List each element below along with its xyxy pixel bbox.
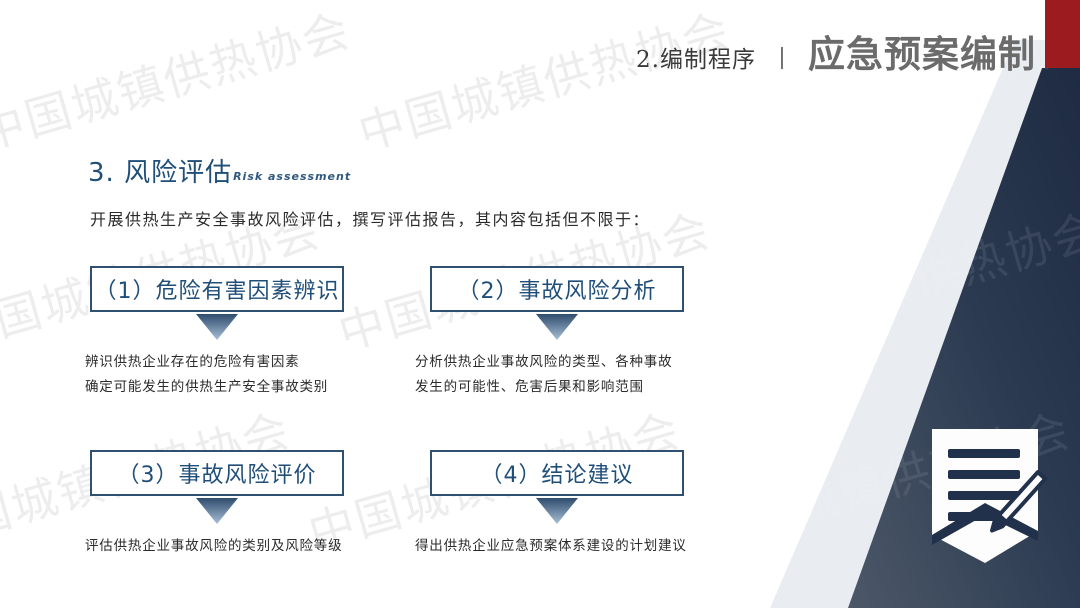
item-description-line: 确定可能发生的供热生产安全事故类别	[85, 375, 344, 400]
item-description-line: 辨识供热企业存在的危险有害因素	[85, 350, 344, 375]
item-box[interactable]: （4）结论建议	[430, 450, 684, 496]
item-description: 辨识供热企业存在的危险有害因素 确定可能发生的供热生产安全事故类别	[85, 350, 344, 400]
item-description-line: 评估供热企业事故风险的类别及风险等级	[85, 534, 344, 559]
item-description: 评估供热企业事故风险的类别及风险等级	[85, 534, 344, 559]
item-label: （1）危险有害因素辨识	[95, 273, 340, 305]
item-description-line: 分析供热企业事故风险的类型、各种事故	[415, 350, 684, 375]
document-with-pen-icon	[920, 423, 1066, 569]
page-title: 3. 风险评估	[88, 152, 232, 189]
down-arrow-icon	[196, 498, 238, 524]
down-arrow-icon	[196, 314, 238, 340]
header-divider: 丨	[770, 39, 794, 74]
item-box[interactable]: （2）事故风险分析	[430, 266, 684, 312]
header-step-label: 2.编制程序	[636, 40, 756, 74]
down-arrow-icon	[536, 498, 578, 524]
list-item: （1）危险有害因素辨识 辨识供热企业存在的危险有害因素 确定可能发生的供热生产安…	[90, 266, 344, 400]
list-item: （2）事故风险分析 分析供热企业事故风险的类型、各种事故 发生的可能性、危害后果…	[430, 266, 684, 400]
accent-block	[1045, 0, 1080, 68]
item-box[interactable]: （3）事故风险评价	[90, 450, 344, 496]
item-label: （2）事故风险分析	[458, 273, 657, 305]
header-title: 2.编制程序 丨 应急预案编制	[636, 24, 1036, 78]
slide-canvas: 中国城镇供热协会 中国城镇供热协会 中国城镇供热协会 中国城镇供热协会 中国城镇…	[0, 0, 1080, 608]
down-arrow-icon	[536, 314, 578, 340]
list-item: （4）结论建议 得出供热企业应急预案体系建设的计划建议	[430, 450, 687, 559]
item-label: （3）事故风险评价	[118, 457, 317, 489]
item-label: （4）结论建议	[481, 457, 634, 489]
header-main-title: 应急预案编制	[808, 24, 1036, 78]
item-box[interactable]: （1）危险有害因素辨识	[90, 266, 344, 312]
list-item: （3）事故风险评价 评估供热企业事故风险的类别及风险等级	[90, 450, 344, 559]
item-description-line: 得出供热企业应急预案体系建设的计划建议	[415, 534, 687, 559]
item-description: 得出供热企业应急预案体系建设的计划建议	[415, 534, 687, 559]
page-subtitle: Risk assessment	[233, 170, 351, 183]
item-description-line: 发生的可能性、危害后果和影响范围	[415, 375, 684, 400]
item-description: 分析供热企业事故风险的类型、各种事故 发生的可能性、危害后果和影响范围	[415, 350, 684, 400]
intro-paragraph: 开展供热生产安全事故风险评估，撰写评估报告，其内容包括但不限于：	[90, 206, 650, 230]
section-heading: 3. 风险评估 Risk assessment	[88, 152, 351, 189]
